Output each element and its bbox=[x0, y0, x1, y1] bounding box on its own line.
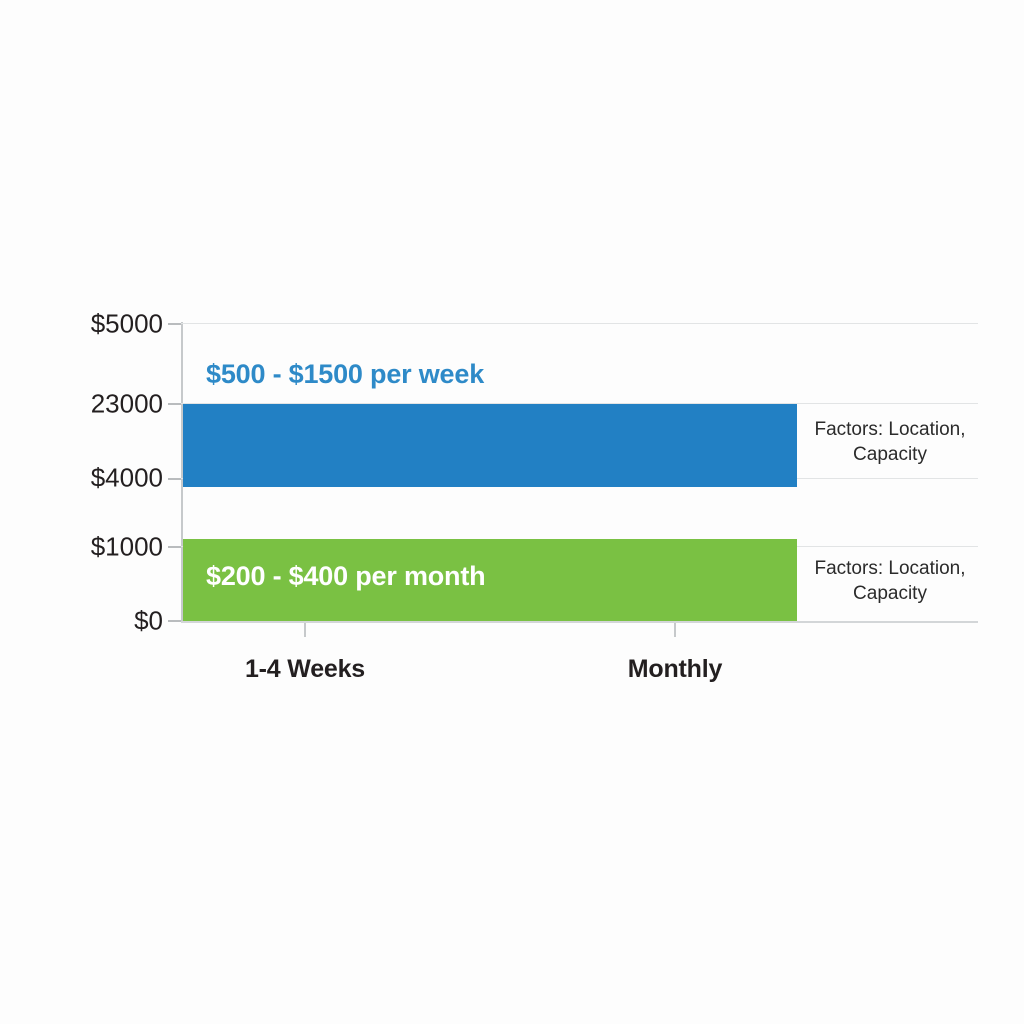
y-tick-mark-23000 bbox=[168, 403, 182, 405]
bar-value-label-1-4-weeks: $500 - $1500 per week bbox=[206, 359, 484, 390]
y-tick-label-0: $0 bbox=[0, 606, 163, 637]
annotation-line-1: Factors: Location, bbox=[800, 417, 980, 442]
y-tick-label-4000: $4000 bbox=[0, 463, 163, 494]
y-tick-mark-0 bbox=[168, 620, 182, 622]
x-axis-line bbox=[181, 621, 978, 623]
y-tick-mark-4000 bbox=[168, 478, 182, 480]
annotation-1-4-weeks: Factors: Location, Capacity bbox=[800, 417, 980, 467]
x-tick-mark-1-4-weeks bbox=[304, 623, 306, 637]
bar-value-label-monthly: $200 - $400 per month bbox=[206, 561, 485, 592]
annotation-line-1: Factors: Location, bbox=[800, 556, 980, 581]
x-tick-mark-monthly bbox=[674, 623, 676, 637]
x-category-label-monthly: Monthly bbox=[628, 655, 722, 684]
y-axis-tick-labels: $5000 23000 $4000 $1000 $0 bbox=[0, 0, 163, 1024]
y-tick-label-23000: 23000 bbox=[0, 389, 163, 420]
gridline-5000 bbox=[181, 323, 978, 324]
y-tick-label-5000: $5000 bbox=[0, 309, 163, 340]
annotation-monthly: Factors: Location, Capacity bbox=[800, 556, 980, 606]
y-tick-mark-5000 bbox=[168, 323, 182, 325]
annotation-line-2: Capacity bbox=[800, 442, 980, 467]
y-tick-mark-1000 bbox=[168, 546, 182, 548]
bar-chart-figure: Aveage Cost (USD) $5000 23000 $4000 $100… bbox=[0, 0, 1024, 1024]
annotation-line-2: Capacity bbox=[800, 581, 980, 606]
y-tick-label-1000: $1000 bbox=[0, 532, 163, 563]
x-category-label-1-4-weeks: 1-4 Weeks bbox=[245, 655, 365, 684]
bar-1-4-weeks[interactable] bbox=[183, 404, 797, 487]
